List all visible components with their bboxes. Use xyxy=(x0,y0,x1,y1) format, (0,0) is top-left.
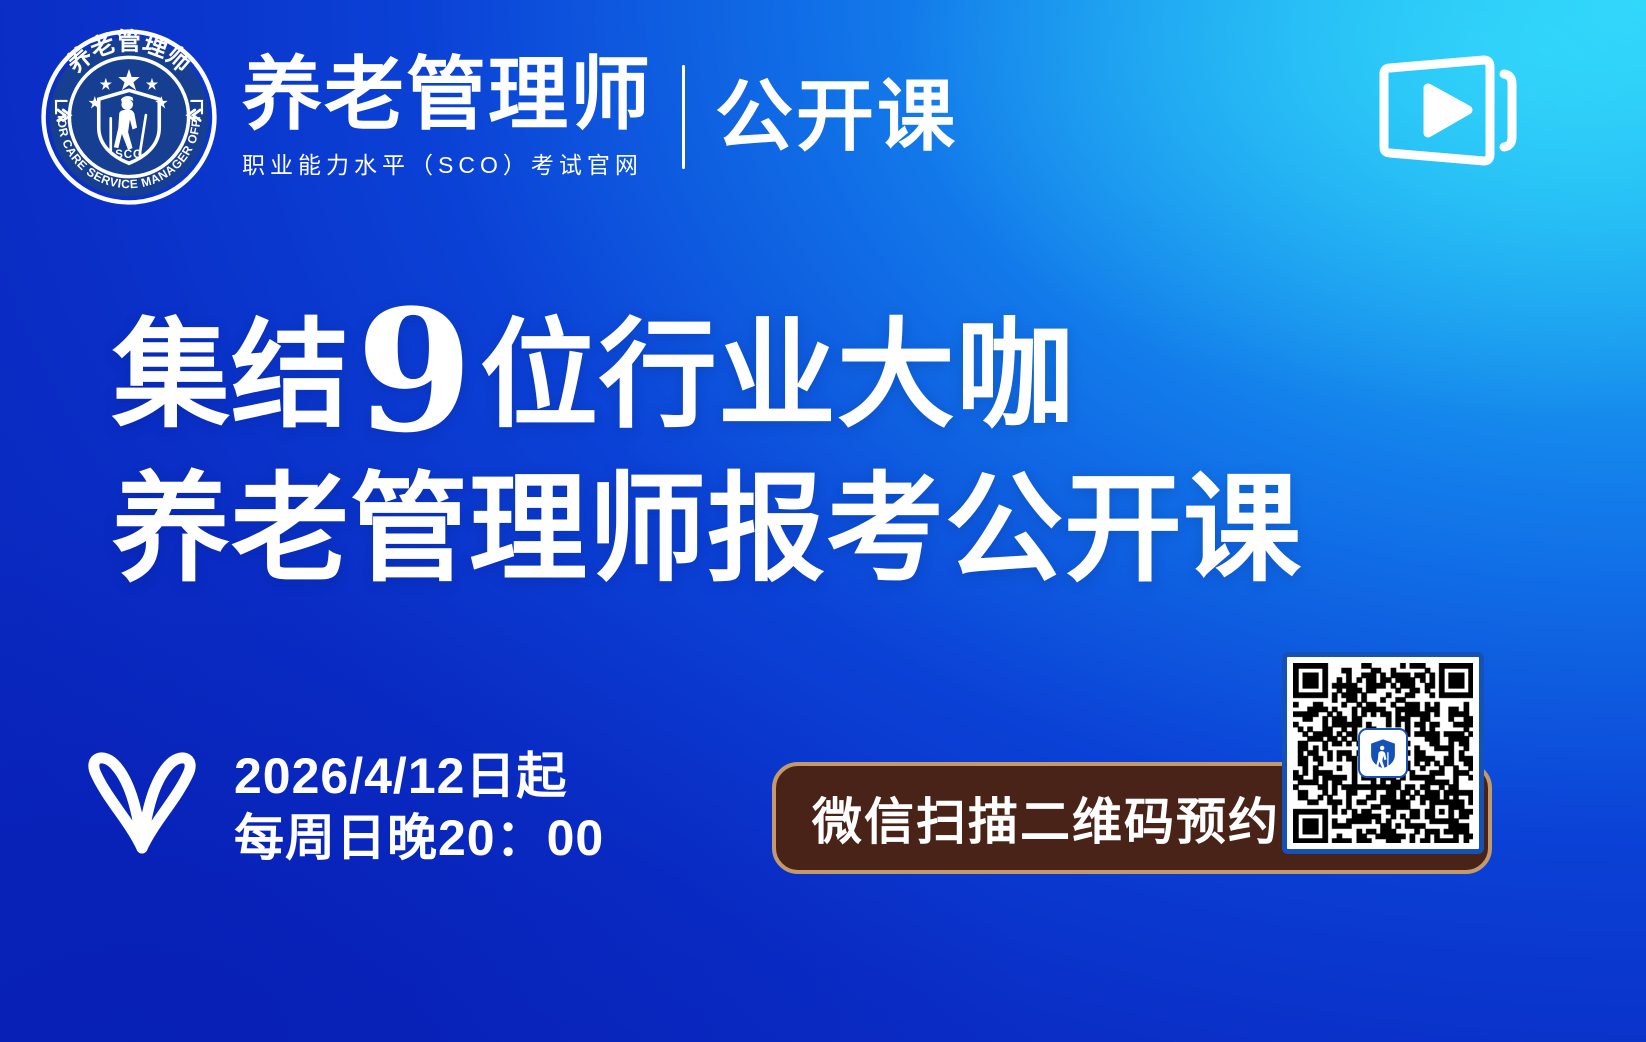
schedule-recurring-time: 每周日晚20：00 xyxy=(234,810,604,866)
poster-canvas: 养老管理师 SENIOR CARE SERVICE MANAGER OFFICE… xyxy=(0,0,1646,1042)
headline-prefix: 集结 xyxy=(112,305,350,444)
brand-text-group: 养老管理师 职业能力水平（SCO）考试官网 xyxy=(242,54,652,180)
header: 养老管理师 SENIOR CARE SERVICE MANAGER OFFICE… xyxy=(40,28,958,206)
brand-divider xyxy=(682,65,685,169)
schedule-text-group: 2026/4/12日起 每周日晚20：00 xyxy=(234,748,604,866)
course-label: 公开课 xyxy=(715,78,958,156)
brand-title: 养老管理师 xyxy=(242,54,652,136)
shield-elderly-icon xyxy=(1358,728,1408,778)
butterfly-m-mark-icon xyxy=(78,748,206,866)
headline-line-2: 养老管理师报考公开课 xyxy=(112,458,1312,600)
brand-subtitle: 职业能力水平（SCO）考试官网 xyxy=(242,146,652,180)
headline-line-1: 集结 9 位行业大咖 xyxy=(112,282,1312,444)
headline: 集结 9 位行业大咖 养老管理师报考公开课 xyxy=(112,282,1312,600)
qr-code[interactable] xyxy=(1282,652,1484,854)
video-play-frame-icon xyxy=(1376,48,1526,173)
brand-block: 养老管理师 职业能力水平（SCO）考试官网 公开课 xyxy=(242,54,958,180)
schedule-start-date: 2026/4/12日起 xyxy=(234,748,604,804)
headline-count-number: 9 xyxy=(350,296,480,447)
schedule-block: 2026/4/12日起 每周日晚20：00 xyxy=(78,748,604,866)
cta-label: 微信扫描二维码预约 xyxy=(812,782,1280,854)
sco-circular-emblem-icon: 养老管理师 SENIOR CARE SERVICE MANAGER OFFICE… xyxy=(40,28,218,206)
headline-suffix: 位行业大咖 xyxy=(480,305,1075,444)
svg-text:SCO: SCO xyxy=(115,149,143,161)
